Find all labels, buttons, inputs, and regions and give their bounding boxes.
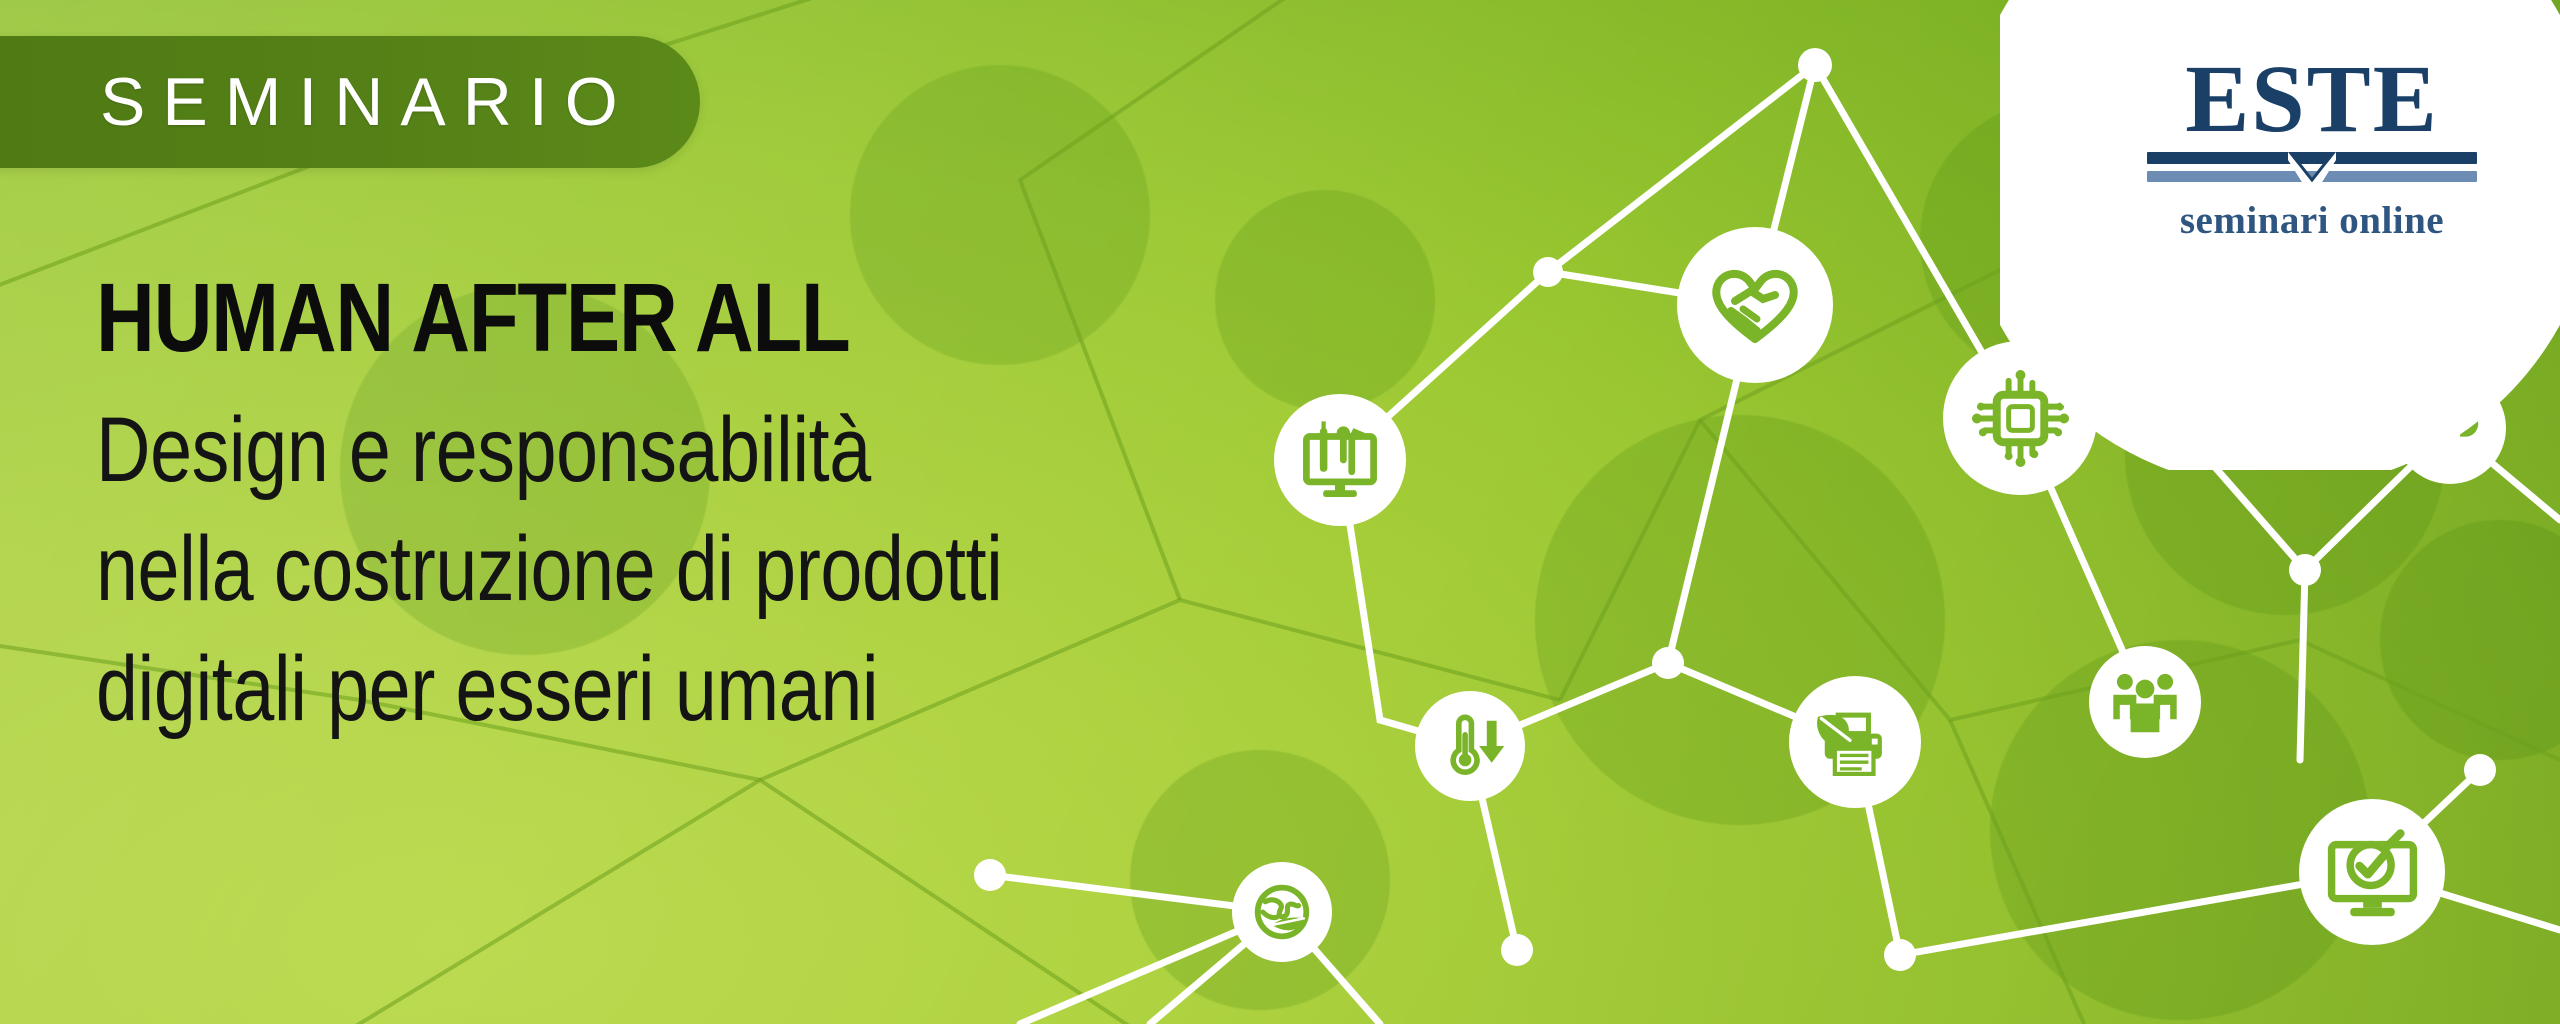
- chevron-down-icon: [2284, 152, 2340, 198]
- network-node-dot: [1884, 939, 1916, 971]
- network-node-dot: [974, 859, 1006, 891]
- network-node-dot: [1652, 647, 1684, 679]
- subtitle-line-1: Design e responsabilità: [96, 391, 1129, 511]
- network-node-dot: [1501, 934, 1533, 966]
- handshake-heart-icon: [1677, 227, 1833, 383]
- network-node-dot: [2289, 554, 2321, 586]
- network-node-dot: [1798, 48, 1832, 82]
- este-tagline: seminari online: [2112, 198, 2512, 243]
- subtitle-line-3: digitali per esseri umani: [96, 630, 1129, 750]
- subtitle-line-2: nella costruzione di prodotti: [96, 510, 1129, 630]
- text-block: HUMAN AFTER ALL Design e responsabilità …: [96, 268, 1356, 750]
- este-wordmark: ESTE: [2112, 52, 2512, 146]
- logo-rule-group: [2147, 152, 2477, 182]
- globe-leaf-icon: [1232, 862, 1332, 962]
- event-type-badge: SEMINARIO: [0, 36, 700, 168]
- eco-printer-icon: [1789, 676, 1921, 808]
- network-node-dot: [1533, 257, 1563, 287]
- subtitle-group: Design e responsabilità nella costruzion…: [96, 391, 1356, 750]
- seminar-banner: SEMINARIO HUMAN AFTER ALL Design e respo…: [0, 0, 2560, 1024]
- people-group-icon: [2089, 646, 2201, 758]
- network-node-dot: [2464, 754, 2496, 786]
- logo-corner: ESTE seminari online: [2000, 0, 2560, 470]
- este-logo: ESTE seminari online: [2112, 52, 2512, 243]
- monitor-check-icon: [2299, 799, 2445, 945]
- event-type-badge-label: SEMINARIO: [100, 63, 635, 141]
- page-title: HUMAN AFTER ALL: [96, 268, 1154, 369]
- thermometer-down-icon: [1415, 691, 1525, 801]
